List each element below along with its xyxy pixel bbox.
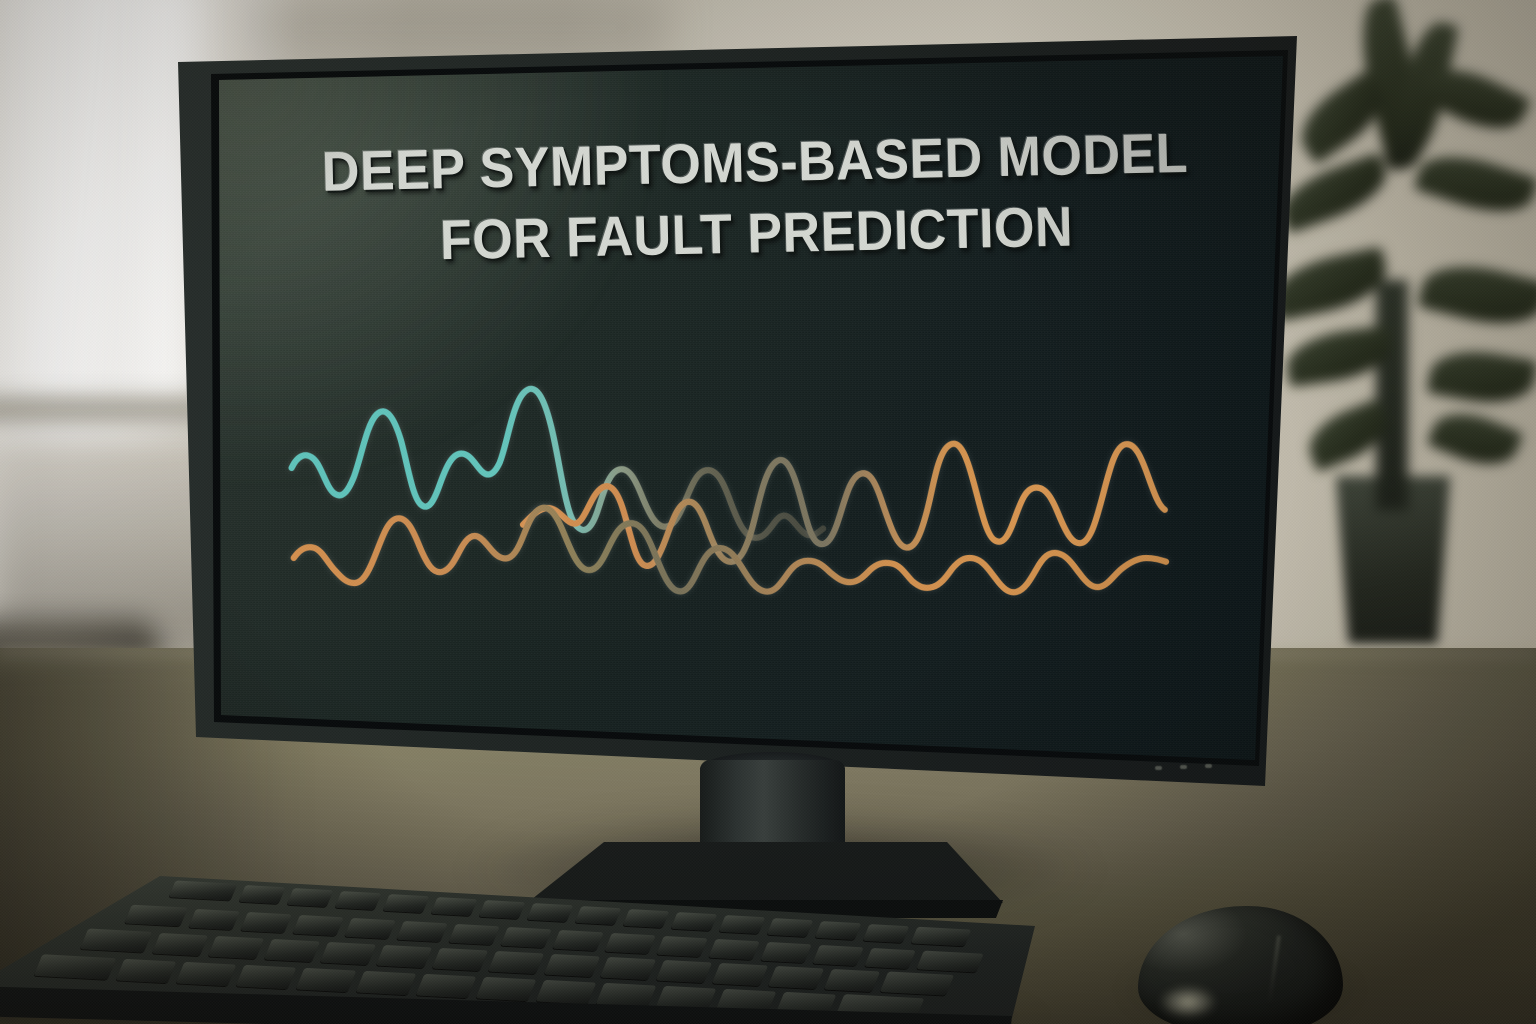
key[interactable]	[863, 924, 910, 943]
input-button-icon[interactable]	[1205, 764, 1212, 768]
key[interactable]	[760, 942, 812, 963]
key[interactable]	[240, 912, 292, 933]
key[interactable]	[536, 980, 597, 1004]
key[interactable]	[236, 965, 297, 989]
key[interactable]	[287, 888, 334, 907]
key[interactable]	[500, 927, 552, 948]
key[interactable]	[552, 930, 604, 951]
key[interactable]	[416, 974, 477, 998]
key[interactable]	[356, 971, 417, 995]
key[interactable]	[916, 951, 984, 973]
key[interactable]	[396, 921, 448, 942]
key[interactable]	[911, 927, 972, 947]
key[interactable]	[656, 960, 712, 983]
key[interactable]	[188, 909, 240, 930]
key[interactable]	[479, 900, 526, 919]
key[interactable]	[169, 881, 238, 901]
keyboard[interactable]	[0, 868, 1050, 1024]
key[interactable]	[335, 891, 382, 910]
key[interactable]	[432, 948, 488, 971]
power-led-icon[interactable]	[1155, 766, 1162, 770]
menu-button-icon[interactable]	[1180, 765, 1187, 769]
key[interactable]	[320, 942, 376, 965]
key[interactable]	[344, 918, 396, 939]
key[interactable]	[671, 912, 718, 931]
key[interactable]	[767, 918, 814, 937]
key[interactable]	[712, 963, 768, 986]
key[interactable]	[34, 954, 117, 980]
key[interactable]	[544, 954, 600, 977]
key[interactable]	[176, 962, 237, 986]
key[interactable]	[476, 977, 537, 1001]
key[interactable]	[448, 924, 500, 945]
key[interactable]	[575, 906, 622, 925]
key[interactable]	[708, 939, 760, 960]
key[interactable]	[208, 936, 264, 959]
mouse-highlight-spot	[1158, 985, 1218, 1019]
key[interactable]	[264, 939, 320, 962]
key[interactable]	[296, 968, 357, 992]
key[interactable]	[527, 903, 574, 922]
key[interactable]	[815, 921, 862, 940]
key[interactable]	[600, 957, 656, 980]
key[interactable]	[292, 915, 344, 936]
key[interactable]	[239, 885, 286, 904]
key[interactable]	[768, 966, 824, 989]
key[interactable]	[152, 933, 208, 956]
scene-root: DEEP SYMPTOMS-BASED MODEL FOR FAULT PRED…	[0, 0, 1536, 1024]
key[interactable]	[488, 951, 544, 974]
key[interactable]	[623, 909, 670, 928]
key[interactable]	[376, 945, 432, 968]
key[interactable]	[383, 894, 430, 913]
key[interactable]	[124, 905, 188, 927]
key[interactable]	[80, 928, 152, 952]
key[interactable]	[116, 959, 177, 983]
key[interactable]	[880, 971, 954, 995]
key[interactable]	[812, 945, 864, 966]
key[interactable]	[824, 969, 880, 992]
key[interactable]	[431, 897, 478, 916]
key[interactable]	[864, 948, 916, 969]
key[interactable]	[656, 936, 708, 957]
key[interactable]	[719, 915, 766, 934]
key[interactable]	[604, 933, 656, 954]
key[interactable]	[596, 983, 657, 1007]
